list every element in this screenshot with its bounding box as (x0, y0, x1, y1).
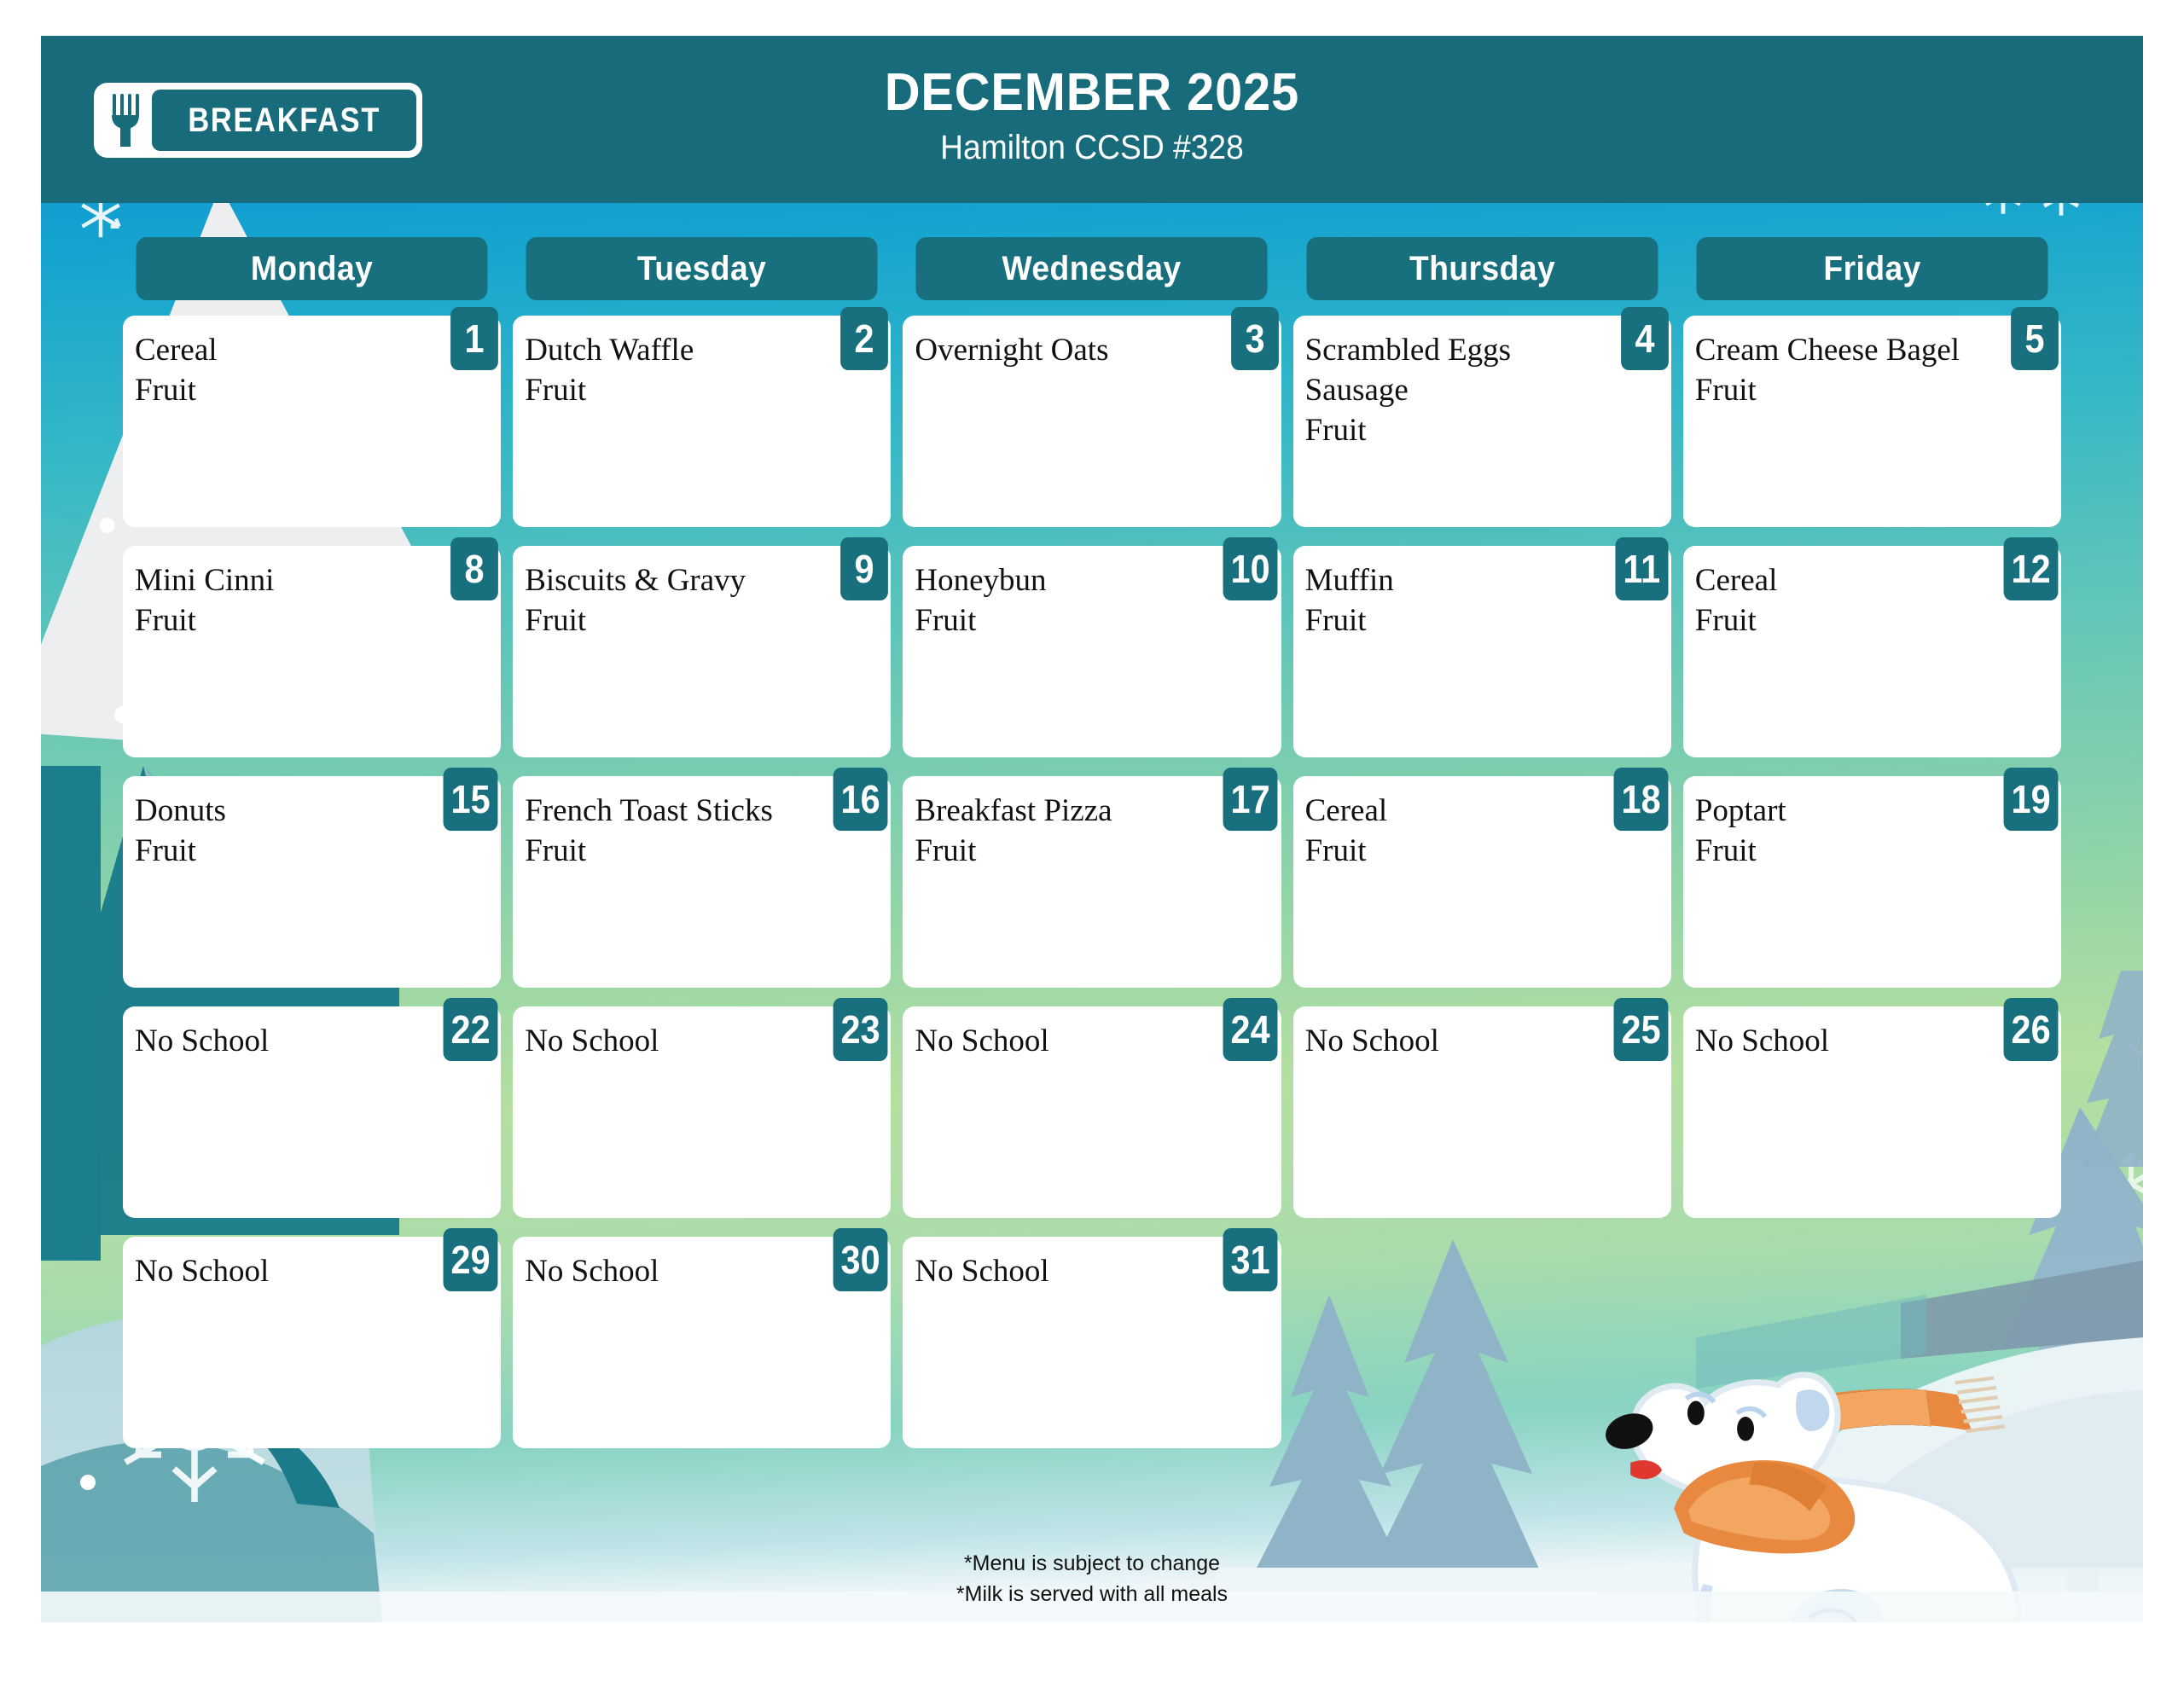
menu-item: Fruit (525, 371, 824, 411)
date-badge: 11 (1616, 537, 1669, 600)
date-badge: 4 (1621, 307, 1669, 370)
date-badge: 29 (444, 1228, 498, 1291)
day-cell[interactable]: No School31 (903, 1237, 1281, 1448)
menu-item: Sausage (1305, 371, 1605, 411)
menu-item-list: MuffinFruit (1305, 561, 1605, 641)
day-cell[interactable]: Overnight Oats3 (903, 316, 1281, 527)
day-cell[interactable]: No School22 (123, 1006, 501, 1218)
poster-header: BREAKFAST DECEMBER 2025 Hamilton CCSD #3… (41, 36, 2143, 203)
day-cell[interactable]: No School25 (1293, 1006, 1671, 1218)
menu-item-list: HoneybunFruit (915, 561, 1214, 641)
date-badge: 30 (834, 1228, 888, 1291)
weekday-header-row: Monday Tuesday Wednesday Thursday Friday (123, 237, 2061, 300)
district-subtitle: Hamilton CCSD #328 (114, 129, 2070, 167)
menu-item: Fruit (525, 832, 824, 872)
menu-item: Cereal (1695, 561, 1995, 601)
menu-item: No School (915, 1022, 1214, 1062)
menu-item: No School (525, 1022, 824, 1062)
date-badge: 5 (2011, 307, 2059, 370)
day-cell[interactable]: Dutch WaffleFruit2 (513, 316, 891, 527)
day-cell[interactable]: No School23 (513, 1006, 891, 1218)
header-titles: DECEMBER 2025 Hamilton CCSD #328 (41, 65, 2143, 167)
week-row: Mini CinniFruit8Biscuits & GravyFruit9Ho… (123, 546, 2061, 757)
date-badge: 23 (834, 998, 888, 1061)
day-cell[interactable]: Mini CinniFruit8 (123, 546, 501, 757)
menu-item: French Toast Sticks (525, 792, 824, 832)
menu-item: Fruit (1695, 601, 1995, 641)
date-badge: 12 (2003, 537, 2058, 600)
calendar-poster-page: BREAKFAST DECEMBER 2025 Hamilton CCSD #3… (0, 0, 2184, 1699)
menu-item-list: No School (525, 1252, 824, 1292)
day-cell[interactable]: No School29 (123, 1237, 501, 1448)
date-badge: 26 (2003, 998, 2058, 1061)
menu-item: Biscuits & Gravy (525, 561, 824, 601)
menu-item-list: Overnight Oats (915, 331, 1214, 371)
day-cell-empty (1683, 1237, 2061, 1448)
menu-item: Fruit (915, 832, 1214, 872)
date-badge: 24 (1223, 998, 1278, 1061)
menu-item: Poptart (1695, 792, 1995, 832)
weekday-header-thursday: Thursday (1306, 237, 1658, 300)
menu-item-list: No School (915, 1022, 1214, 1062)
menu-item: Fruit (1305, 601, 1605, 641)
day-cell[interactable]: PoptartFruit19 (1683, 776, 2061, 988)
menu-item-list: Scrambled EggsSausageFruit (1305, 331, 1605, 451)
menu-item: Mini Cinni (135, 561, 434, 601)
date-badge: 3 (1231, 307, 1279, 370)
week-row: DonutsFruit15French Toast SticksFruit16B… (123, 776, 2061, 988)
weekday-header-friday: Friday (1696, 237, 2047, 300)
menu-item: Cereal (1305, 792, 1605, 832)
day-cell[interactable]: Cream Cheese BagelFruit5 (1683, 316, 2061, 527)
date-badge: 16 (834, 768, 888, 831)
day-cell[interactable]: Biscuits & GravyFruit9 (513, 546, 891, 757)
menu-item: Fruit (135, 371, 434, 411)
day-cell[interactable]: CerealFruit12 (1683, 546, 2061, 757)
menu-item: Fruit (1695, 832, 1995, 872)
week-row: No School29No School30No School31 (123, 1237, 2061, 1448)
menu-item: No School (525, 1252, 824, 1292)
menu-item: Fruit (135, 832, 434, 872)
menu-item: Fruit (1305, 832, 1605, 872)
day-cell[interactable]: DonutsFruit15 (123, 776, 501, 988)
menu-item: No School (135, 1252, 434, 1292)
weeks-container: CerealFruit1Dutch WaffleFruit2Overnight … (123, 316, 2061, 1448)
date-badge: 25 (1613, 998, 1668, 1061)
date-badge: 22 (444, 998, 498, 1061)
menu-item-list: No School (135, 1022, 434, 1062)
menu-item: Fruit (135, 601, 434, 641)
menu-item: Fruit (1305, 411, 1605, 451)
menu-item: No School (1305, 1022, 1605, 1062)
menu-item: No School (135, 1022, 434, 1062)
weekday-header-wednesday: Wednesday (916, 237, 1268, 300)
menu-item: Honeybun (915, 561, 1214, 601)
date-badge: 10 (1223, 537, 1278, 600)
date-badge: 31 (1223, 1228, 1278, 1291)
menu-item: Fruit (525, 601, 824, 641)
menu-item: No School (915, 1252, 1214, 1292)
day-cell[interactable]: Scrambled EggsSausageFruit4 (1293, 316, 1671, 527)
page-title: DECEMBER 2025 (114, 65, 2070, 120)
menu-item: Scrambled Eggs (1305, 331, 1605, 371)
date-badge: 18 (1613, 768, 1668, 831)
day-cell[interactable]: No School24 (903, 1006, 1281, 1218)
footer-note-milk: *Milk is served with all meals (0, 1579, 2184, 1609)
menu-item-list: CerealFruit (1695, 561, 1995, 641)
day-cell[interactable]: CerealFruit18 (1293, 776, 1671, 988)
footer-notes: *Menu is subject to change *Milk is serv… (0, 1548, 2184, 1610)
day-cell[interactable]: No School26 (1683, 1006, 2061, 1218)
date-badge: 15 (444, 768, 498, 831)
menu-item-list: CerealFruit (1305, 792, 1605, 872)
date-badge: 2 (840, 307, 888, 370)
day-cell[interactable]: MuffinFruit11 (1293, 546, 1671, 757)
date-badge: 8 (450, 537, 498, 600)
day-cell[interactable]: No School30 (513, 1237, 891, 1448)
menu-item-list: No School (1305, 1022, 1605, 1062)
menu-item-list: Breakfast PizzaFruit (915, 792, 1214, 872)
day-cell-empty (1293, 1237, 1671, 1448)
menu-item-list: No School (915, 1252, 1214, 1292)
week-row: No School22No School23No School24No Scho… (123, 1006, 2061, 1218)
day-cell[interactable]: French Toast SticksFruit16 (513, 776, 891, 988)
menu-item: Cereal (135, 331, 434, 371)
menu-item-list: French Toast SticksFruit (525, 792, 824, 872)
menu-item: Donuts (135, 792, 434, 832)
menu-item-list: DonutsFruit (135, 792, 434, 872)
menu-item: Breakfast Pizza (915, 792, 1214, 832)
menu-item-list: CerealFruit (135, 331, 434, 411)
menu-item: Overnight Oats (915, 331, 1214, 371)
date-badge: 1 (450, 307, 498, 370)
calendar-grid: Monday Tuesday Wednesday Thursday Friday… (41, 203, 2143, 1622)
menu-item: Muffin (1305, 561, 1605, 601)
weekday-header-monday: Monday (136, 237, 488, 300)
date-badge: 19 (2003, 768, 2058, 831)
day-cell[interactable]: CerealFruit1 (123, 316, 501, 527)
menu-item-list: Dutch WaffleFruit (525, 331, 824, 411)
day-cell[interactable]: HoneybunFruit10 (903, 546, 1281, 757)
menu-item-list: PoptartFruit (1695, 792, 1995, 872)
menu-item-list: Biscuits & GravyFruit (525, 561, 824, 641)
menu-item-list: Cream Cheese BagelFruit (1695, 331, 1995, 411)
menu-item-list: No School (1695, 1022, 1995, 1062)
menu-item-list: No School (135, 1252, 434, 1292)
weekday-header-tuesday: Tuesday (526, 237, 878, 300)
date-badge: 17 (1223, 768, 1278, 831)
day-cell[interactable]: Breakfast PizzaFruit17 (903, 776, 1281, 988)
menu-item: Cream Cheese Bagel (1695, 331, 1995, 371)
menu-item: Fruit (1695, 371, 1995, 411)
menu-poster: BREAKFAST DECEMBER 2025 Hamilton CCSD #3… (41, 36, 2143, 1622)
menu-item: Dutch Waffle (525, 331, 824, 371)
footer-note-menu-change: *Menu is subject to change (0, 1548, 2184, 1579)
menu-item: No School (1695, 1022, 1995, 1062)
week-row: CerealFruit1Dutch WaffleFruit2Overnight … (123, 316, 2061, 527)
date-badge: 9 (840, 537, 888, 600)
menu-item-list: No School (525, 1022, 824, 1062)
menu-item-list: Mini CinniFruit (135, 561, 434, 641)
menu-item: Fruit (915, 601, 1214, 641)
